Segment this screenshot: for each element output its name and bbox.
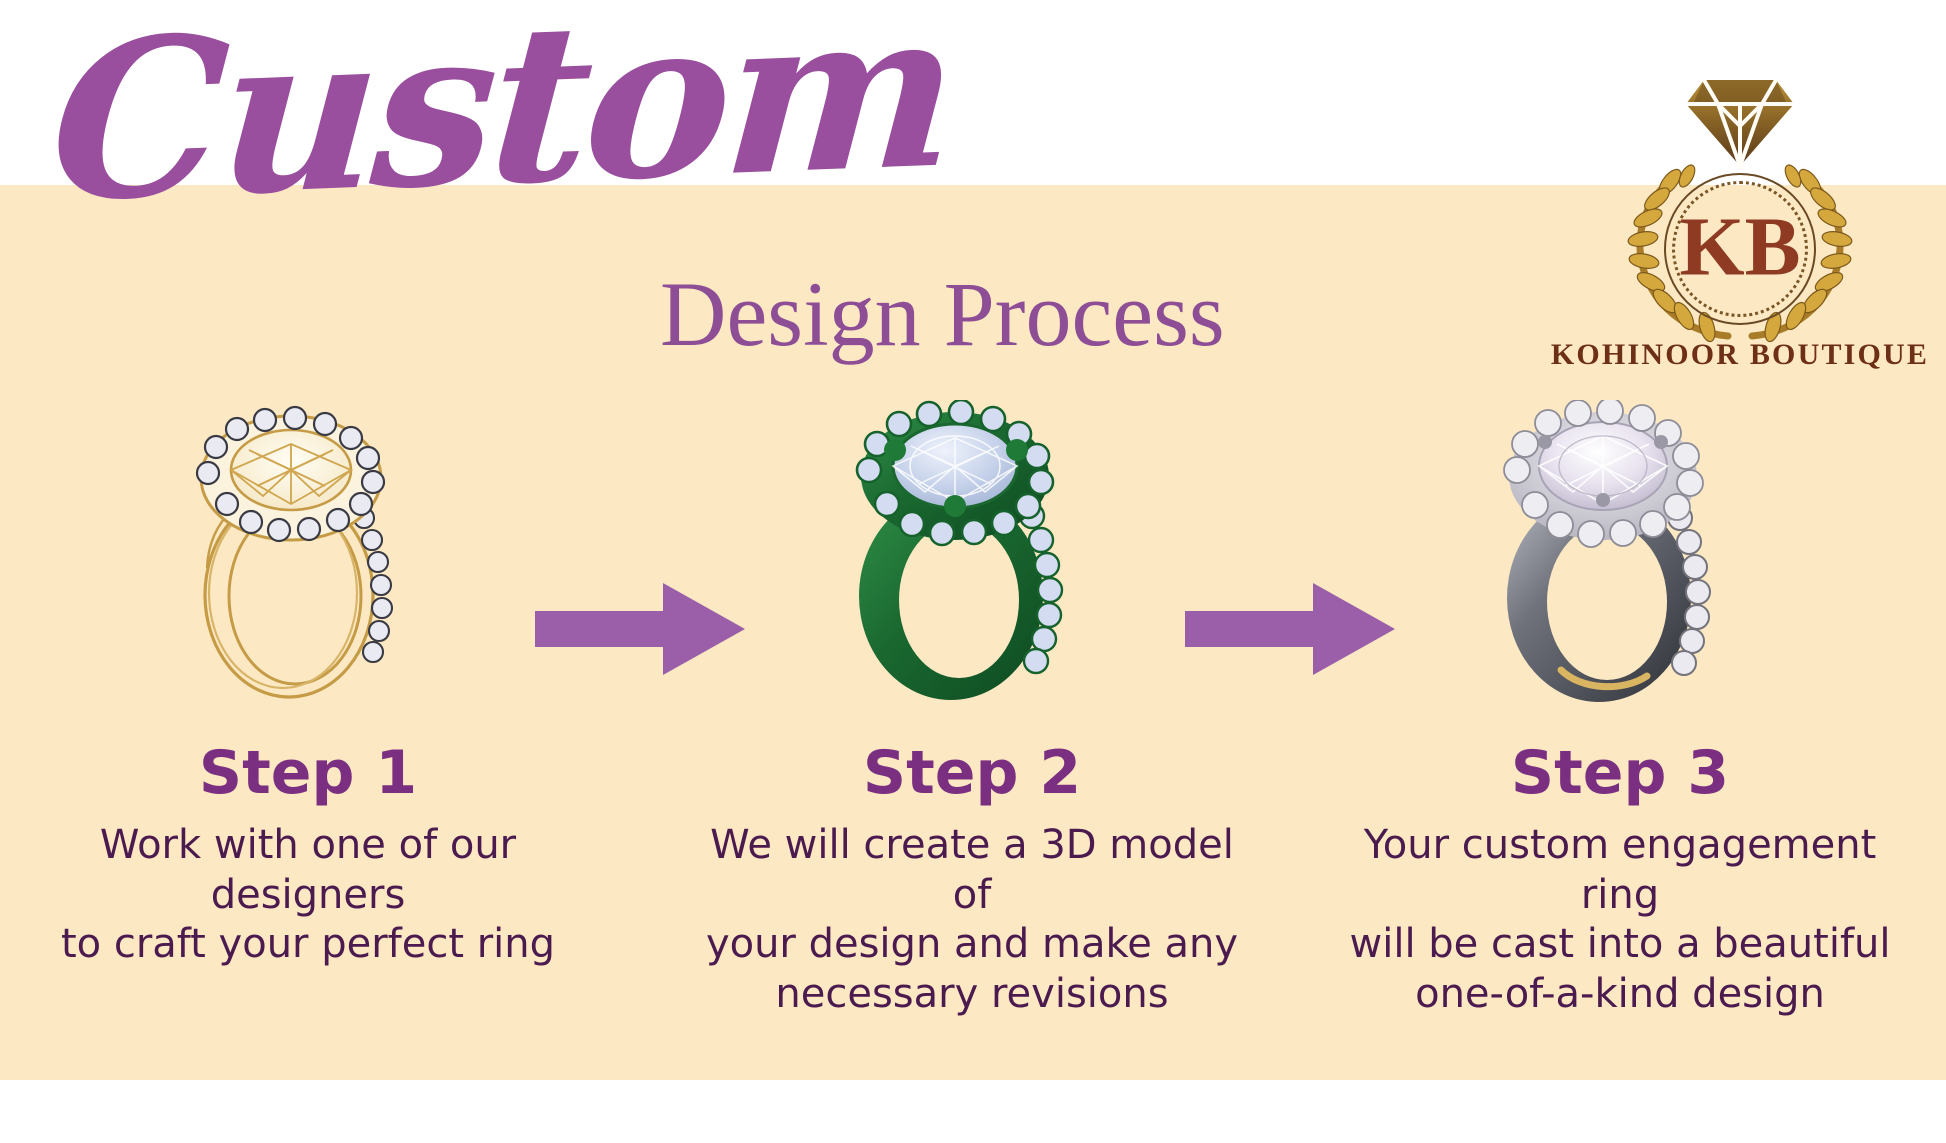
steps-row: Step 1 Work with one of our designers to…	[0, 400, 1946, 1100]
step-2-title: Step 2	[672, 742, 1272, 805]
brand-logo[interactable]: KB KOHINOOR BOUTIQUE	[1545, 70, 1935, 390]
step-3-title: Step 3	[1320, 742, 1920, 805]
headline: Custom Design Process	[0, 0, 1400, 400]
headline-script-word: Custom	[45, 0, 958, 232]
step-2-description: We will create a 3D model of your design…	[672, 821, 1272, 1019]
step-1: Step 1 Work with one of our designers to…	[8, 400, 608, 970]
laurel-wreath-icon: KB	[1624, 154, 1856, 344]
step-3-desc-line-2: will be cast into a beautiful	[1338, 920, 1902, 970]
step-3-description: Your custom engagement ring will be cast…	[1320, 821, 1920, 1019]
step-2-ring-stage	[672, 400, 1272, 730]
logo-monogram: KB	[1679, 205, 1800, 289]
step-2-desc-line-1: We will create a 3D model of	[690, 821, 1254, 920]
step-2-desc-line-3: necessary revisions	[690, 970, 1254, 1020]
step-1-ring-stage	[8, 400, 608, 730]
ring-sketch-icon	[183, 400, 433, 710]
step-3-desc-line-1: Your custom engagement ring	[1338, 821, 1902, 920]
step-2-desc-line-2: your design and make any	[690, 920, 1254, 970]
step-1-desc-line-2: to craft your perfect ring	[26, 920, 590, 970]
step-3: Step 3 Your custom engagement ring will …	[1320, 400, 1920, 1019]
step-1-description: Work with one of our designers to craft …	[8, 821, 608, 970]
logo-brand-name: KOHINOOR BOUTIQUE	[1551, 338, 1929, 372]
step-1-desc-line-1: Work with one of our designers	[26, 821, 590, 920]
step-3-desc-line-3: one-of-a-kind design	[1338, 970, 1902, 1020]
step-2: Step 2 We will create a 3D model of your…	[672, 400, 1272, 1019]
step-1-title: Step 1	[8, 742, 608, 805]
step-3-ring-stage	[1320, 400, 1920, 730]
ring-finished-icon	[1495, 400, 1745, 710]
ring-3d-model-icon	[847, 400, 1097, 710]
infographic-canvas: Custom Design Process	[0, 0, 1946, 1143]
headline-serif-words: Design Process	[660, 268, 1225, 360]
